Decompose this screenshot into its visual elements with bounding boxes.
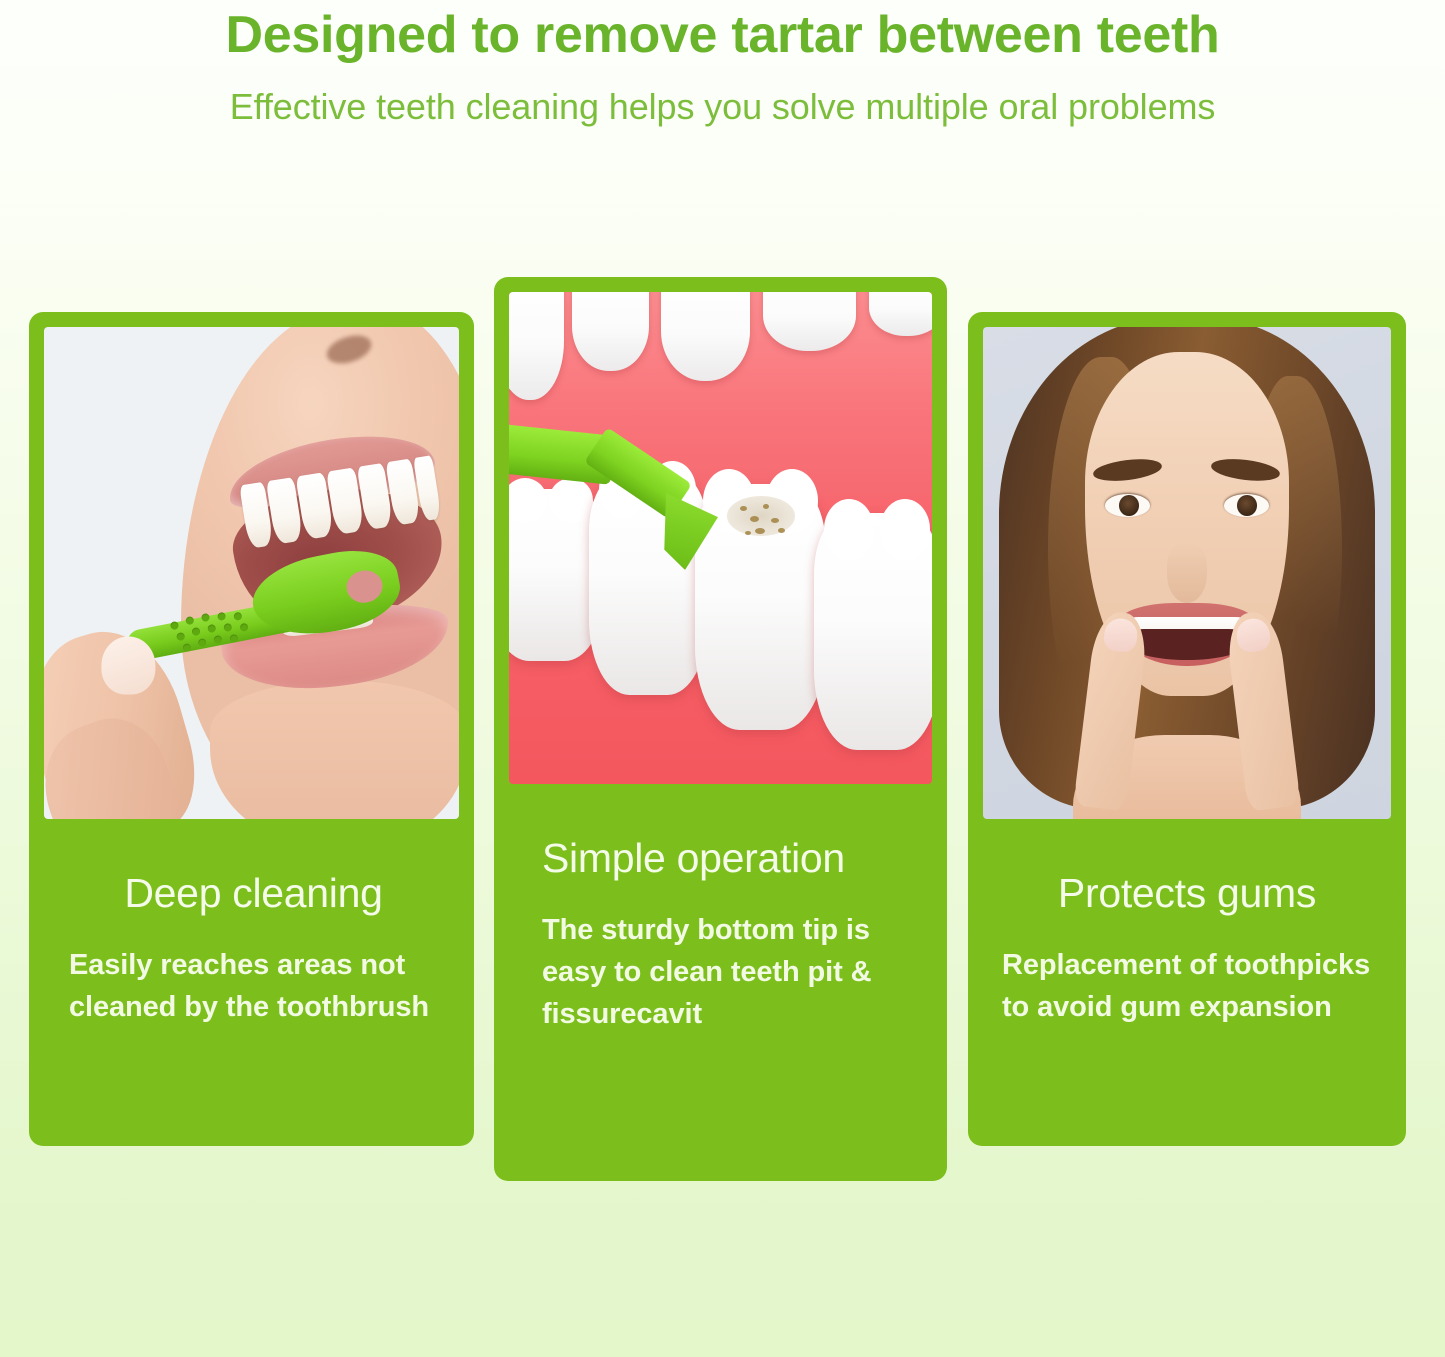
card-body: Deep cleaning Easily reaches areas not c… bbox=[29, 868, 474, 1028]
card-description: Replacement of toothpicks to avoid gum e… bbox=[994, 918, 1380, 1028]
smiling-woman-photo bbox=[983, 327, 1391, 819]
card-description: Easily reaches areas not cleaned by the … bbox=[55, 918, 448, 1028]
feature-card-simple-operation[interactable]: Simple operation The sturdy bottom tip i… bbox=[494, 277, 947, 1181]
feature-cards: Deep cleaning Easily reaches areas not c… bbox=[0, 0, 1445, 1357]
dental-pick-tip-icon bbox=[509, 430, 754, 592]
mouth-with-dental-pick-photo bbox=[44, 327, 459, 819]
feature-card-protects-gums[interactable]: Protects gums Replacement of toothpicks … bbox=[968, 312, 1406, 1146]
card-body: Protects gums Replacement of toothpicks … bbox=[968, 868, 1406, 1028]
card-title: Protects gums bbox=[994, 868, 1380, 918]
card-title: Simple operation bbox=[520, 833, 921, 883]
card-title: Deep cleaning bbox=[55, 868, 448, 918]
card-body: Simple operation The sturdy bottom tip i… bbox=[494, 833, 947, 1035]
tooth-pit-cleaning-illustration bbox=[509, 292, 932, 784]
card-description: The sturdy bottom tip is easy to clean t… bbox=[520, 883, 921, 1035]
feature-card-deep-cleaning[interactable]: Deep cleaning Easily reaches areas not c… bbox=[29, 312, 474, 1146]
